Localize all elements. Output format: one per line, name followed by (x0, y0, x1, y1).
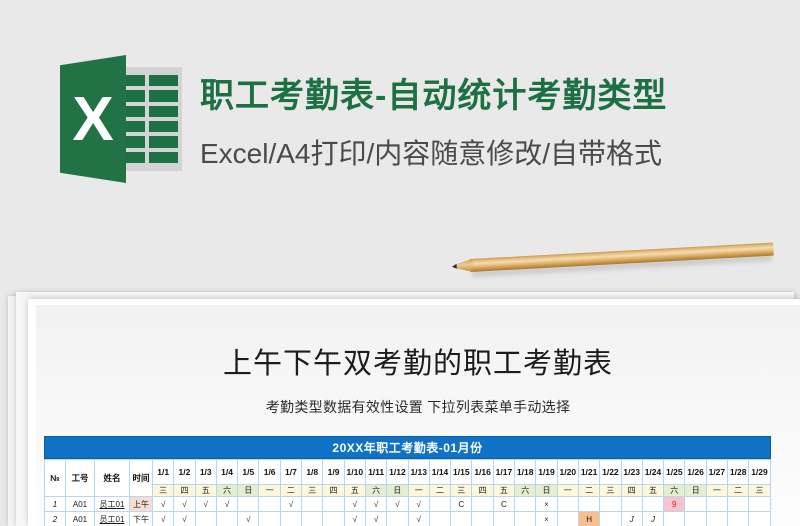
weekday-header-cell: 三 (153, 485, 174, 497)
date-header-cell: 1/20 (557, 460, 578, 485)
date-header-cell: 1/17 (493, 460, 514, 485)
attendance-cell[interactable]: × (536, 497, 557, 512)
date-header-cell: 1/29 (749, 460, 770, 485)
attendance-cell[interactable] (195, 512, 216, 526)
attendance-cell[interactable] (749, 512, 770, 526)
employee-id-cell[interactable]: A01 (66, 512, 95, 526)
date-header-cell: 1/4 (216, 460, 237, 485)
attendance-cell[interactable]: √ (344, 512, 365, 526)
weekday-header-cell: 四 (472, 485, 493, 497)
attendance-cell[interactable] (216, 512, 237, 526)
date-header-cell: 1/23 (621, 460, 642, 485)
attendance-cell[interactable] (323, 497, 344, 512)
attendance-cell[interactable] (557, 512, 578, 526)
logo-cell (149, 152, 178, 163)
attendance-cell[interactable] (259, 497, 280, 512)
weekday-header-cell: 三 (600, 485, 621, 497)
attendance-cell[interactable]: × (536, 512, 557, 526)
table-band-title: 20XX年职工考勤表-01月份 (44, 436, 771, 459)
employee-id-cell[interactable]: A01 (66, 497, 95, 512)
attendance-cell[interactable] (728, 512, 749, 526)
date-header-cell: 1/13 (408, 460, 429, 485)
weekday-header-cell: 日 (387, 485, 408, 497)
weekday-header-cell: 五 (195, 485, 216, 497)
attendance-cell[interactable] (515, 512, 536, 526)
attendance-table: №工号姓名时间1/11/21/31/41/51/61/71/81/91/101/… (44, 459, 771, 526)
date-header-cell: 1/15 (451, 460, 472, 485)
weekday-header-cell: 四 (621, 485, 642, 497)
attendance-cell[interactable]: C (493, 497, 514, 512)
attendance-cell[interactable] (685, 497, 706, 512)
weekday-header-cell: 一 (408, 485, 429, 497)
attendance-cell[interactable] (770, 512, 771, 526)
attendance-cell[interactable] (557, 497, 578, 512)
weekday-header-cell: 四 (323, 485, 344, 497)
attendance-cell[interactable] (387, 512, 408, 526)
date-header-cell: 1/6 (259, 460, 280, 485)
table-header-dates: №工号姓名时间1/11/21/31/41/51/61/71/81/91/101/… (45, 460, 772, 485)
table-row[interactable]: 2A01员工01下午√√√√√√×HJJ (45, 512, 772, 526)
attendance-cell[interactable] (429, 497, 450, 512)
weekday-header-cell: 二 (578, 485, 599, 497)
attendance-cell[interactable]: √ (195, 497, 216, 512)
attendance-cell[interactable] (515, 497, 536, 512)
date-header-cell: 1/3 (195, 460, 216, 485)
column-header-0: № (45, 460, 66, 497)
header-banner: X 职工考勤表-自动统计考勤类型 Excel/A4打印/内容随意修改/自带格式 (0, 0, 800, 290)
attendance-cell[interactable]: √ (408, 512, 429, 526)
weekday-header-cell: 六 (515, 485, 536, 497)
attendance-cell[interactable] (493, 512, 514, 526)
date-header-cell: 1/7 (280, 460, 301, 485)
date-header-cell: 1/22 (600, 460, 621, 485)
weekday-header-cell: 四 (174, 485, 195, 497)
attendance-cell[interactable]: C (451, 497, 472, 512)
date-header-cell: 1/18 (515, 460, 536, 485)
weekday-header-cell: 日 (238, 485, 259, 497)
excel-logo: X (60, 55, 182, 183)
table-row[interactable]: 1A01员工01上午√√√√√√√√√CC×9 (45, 497, 772, 512)
attendance-cell[interactable] (706, 497, 727, 512)
weekday-header-cell: 六 (365, 485, 386, 497)
attendance-cell[interactable] (770, 497, 771, 512)
row-index-cell[interactable]: 1 (45, 497, 66, 512)
date-header-cell: 1/9 (323, 460, 344, 485)
employee-name-cell[interactable]: 员工01 (95, 497, 130, 512)
date-header-cell: 1/11 (365, 460, 386, 485)
attendance-cell[interactable] (642, 497, 663, 512)
date-header-cell: 1/2 (174, 460, 195, 485)
date-header-cell: 1/24 (642, 460, 663, 485)
worksheet-subtitle: 考勤类型数据有效性设置 下拉列表菜单手动选择 (36, 397, 800, 417)
excel-logo-letter: X (60, 55, 126, 183)
attendance-cell[interactable] (600, 497, 621, 512)
date-header-cell: 1/25 (664, 460, 685, 485)
column-header-2: 姓名 (95, 460, 130, 497)
attendance-cell[interactable] (685, 512, 706, 526)
period-cell[interactable]: 下午 (130, 512, 153, 526)
attendance-cell[interactable] (749, 497, 770, 512)
column-header-1: 工号 (66, 460, 95, 497)
column-header-3: 时间 (130, 460, 153, 497)
attendance-cell[interactable] (600, 512, 621, 526)
attendance-cell[interactable] (302, 512, 323, 526)
weekday-header-cell: 三 (749, 485, 770, 497)
date-header-cell: 1/12 (387, 460, 408, 485)
attendance-cell[interactable] (472, 497, 493, 512)
date-header-cell: 1/16 (472, 460, 493, 485)
date-header-cell: 1/28 (728, 460, 749, 485)
attendance-cell[interactable]: √ (153, 512, 174, 526)
row-index-cell[interactable]: 2 (45, 512, 66, 526)
attendance-cell[interactable] (578, 497, 599, 512)
weekday-header-cell: 三 (302, 485, 323, 497)
attendance-cell[interactable] (280, 512, 301, 526)
page-subtitle: Excel/A4打印/内容随意修改/自带格式 (200, 132, 662, 172)
weekday-header-cell: 一 (259, 485, 280, 497)
weekday-header-cell: 二 (429, 485, 450, 497)
date-header-cell: 1/30 (770, 460, 771, 485)
worksheet-canvas: 上午下午双考勤的职工考勤表 考勤类型数据有效性设置 下拉列表菜单手动选择 20X… (36, 305, 800, 526)
attendance-cell[interactable] (238, 497, 259, 512)
date-header-cell: 1/19 (536, 460, 557, 485)
employee-name-cell[interactable]: 员工01 (95, 512, 130, 526)
date-header-cell: 1/8 (302, 460, 323, 485)
attendance-cell[interactable]: √ (344, 497, 365, 512)
weekday-header-cell: 一 (706, 485, 727, 497)
attendance-cell[interactable] (728, 497, 749, 512)
weekday-header-cell: 五 (493, 485, 514, 497)
period-cell[interactable]: 上午 (130, 497, 153, 512)
attendance-cell[interactable] (429, 512, 450, 526)
logo-cell (149, 90, 178, 101)
weekday-header-cell: 二 (728, 485, 749, 497)
attendance-cell[interactable]: J (621, 512, 642, 526)
worksheet-title: 上午下午双考勤的职工考勤表 (36, 340, 800, 382)
weekday-header-cell: 三 (451, 485, 472, 497)
date-header-cell: 1/10 (344, 460, 365, 485)
attendance-cell[interactable]: √ (280, 497, 301, 512)
weekday-header-cell: 五 (344, 485, 365, 497)
weekday-header-cell: 六 (216, 485, 237, 497)
attendance-cell[interactable]: √ (174, 512, 195, 526)
attendance-cell[interactable]: √ (174, 497, 195, 512)
logo-cell (149, 121, 178, 132)
attendance-cell[interactable]: 9 (664, 497, 685, 512)
date-header-cell: 1/14 (429, 460, 450, 485)
attendance-cell[interactable]: √ (365, 512, 386, 526)
weekday-header-cell: 六 (664, 485, 685, 497)
attendance-cell[interactable] (302, 497, 323, 512)
attendance-cell[interactable] (706, 512, 727, 526)
date-header-cell: 1/1 (153, 460, 174, 485)
worksheet-preview: 上午下午双考勤的职工考勤表 考勤类型数据有效性设置 下拉列表菜单手动选择 20X… (28, 299, 800, 526)
logo-cell (149, 106, 178, 117)
attendance-cell[interactable]: √ (216, 497, 237, 512)
attendance-cell[interactable] (259, 512, 280, 526)
weekday-header-cell: 四 (770, 485, 771, 497)
spreadsheet-grid: 20XX年职工考勤表-01月份 №工号姓名时间1/11/21/31/41/51/… (44, 436, 771, 526)
attendance-cell[interactable] (323, 512, 344, 526)
logo-cell (149, 136, 178, 147)
weekday-header-cell: 二 (280, 485, 301, 497)
logo-cell (149, 75, 178, 86)
table-header-weekdays: 三四五六日一二三四五六日一二三四五六日一二三四五六日一二三四三 (45, 485, 772, 497)
attendance-cell[interactable] (451, 512, 472, 526)
attendance-cell[interactable]: √ (408, 497, 429, 512)
date-header-cell: 1/5 (238, 460, 259, 485)
attendance-cell[interactable]: √ (153, 497, 174, 512)
attendance-cell[interactable]: √ (238, 512, 259, 526)
attendance-cell[interactable]: √ (387, 497, 408, 512)
weekday-header-cell: 日 (685, 485, 706, 497)
attendance-cell[interactable]: J (642, 512, 663, 526)
attendance-cell[interactable]: H (578, 512, 599, 526)
date-header-cell: 1/21 (578, 460, 599, 485)
weekday-header-cell: 一 (557, 485, 578, 497)
attendance-cell[interactable] (472, 512, 493, 526)
weekday-header-cell: 日 (536, 485, 557, 497)
date-header-cell: 1/26 (685, 460, 706, 485)
weekday-header-cell: 五 (642, 485, 663, 497)
page-title: 职工考勤表-自动统计考勤类型 (200, 68, 667, 117)
attendance-cell[interactable]: √ (365, 497, 386, 512)
date-header-cell: 1/27 (706, 460, 727, 485)
attendance-cell[interactable] (664, 512, 685, 526)
attendance-cell[interactable] (621, 497, 642, 512)
